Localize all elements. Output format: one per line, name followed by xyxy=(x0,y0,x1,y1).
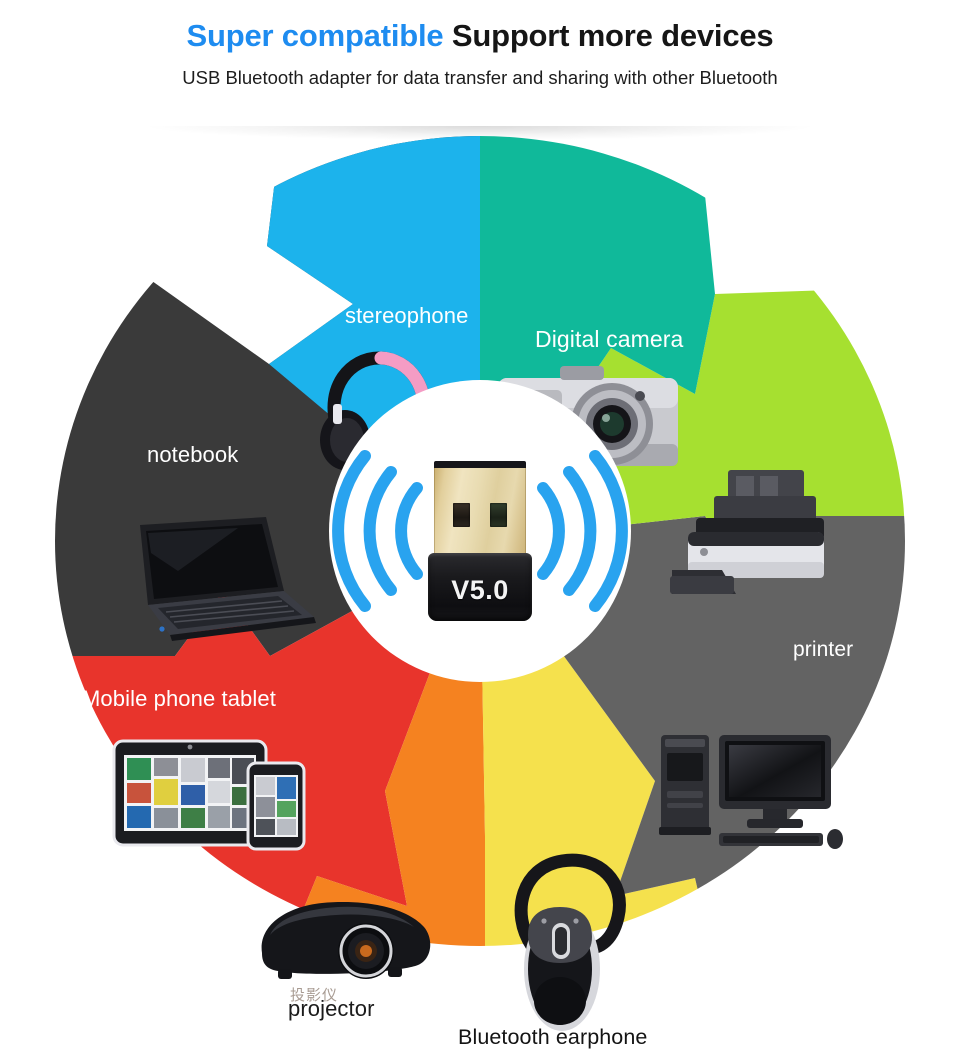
desktop-computer-icon xyxy=(655,721,845,866)
usb-pin-left xyxy=(453,503,470,527)
compatibility-wheel: stereophone Digital camera printer Deskt… xyxy=(0,128,960,960)
dongle-body: V5.0 xyxy=(428,553,532,621)
laptop-icon xyxy=(118,513,318,643)
printer-icon xyxy=(666,466,844,614)
page-subtitle: USB Bluetooth adapter for data transfer … xyxy=(0,54,960,89)
usb-bluetooth-dongle-icon: V5.0 xyxy=(428,461,532,621)
tablet-and-phone-icon xyxy=(110,733,310,853)
headline-accent: Super compatible xyxy=(187,18,444,53)
page-title: Super compatible Support more devices xyxy=(0,0,960,54)
header: Super compatible Support more devices US… xyxy=(0,0,960,132)
bluetooth-headset-icon xyxy=(500,851,650,1036)
usb-connector xyxy=(434,461,526,557)
segment-label-projector: projector xyxy=(288,996,375,1022)
headline-rest: Support more devices xyxy=(452,18,774,53)
version-label: V5.0 xyxy=(451,575,509,606)
usb-pin-right xyxy=(490,503,507,527)
projector-icon xyxy=(248,883,438,998)
